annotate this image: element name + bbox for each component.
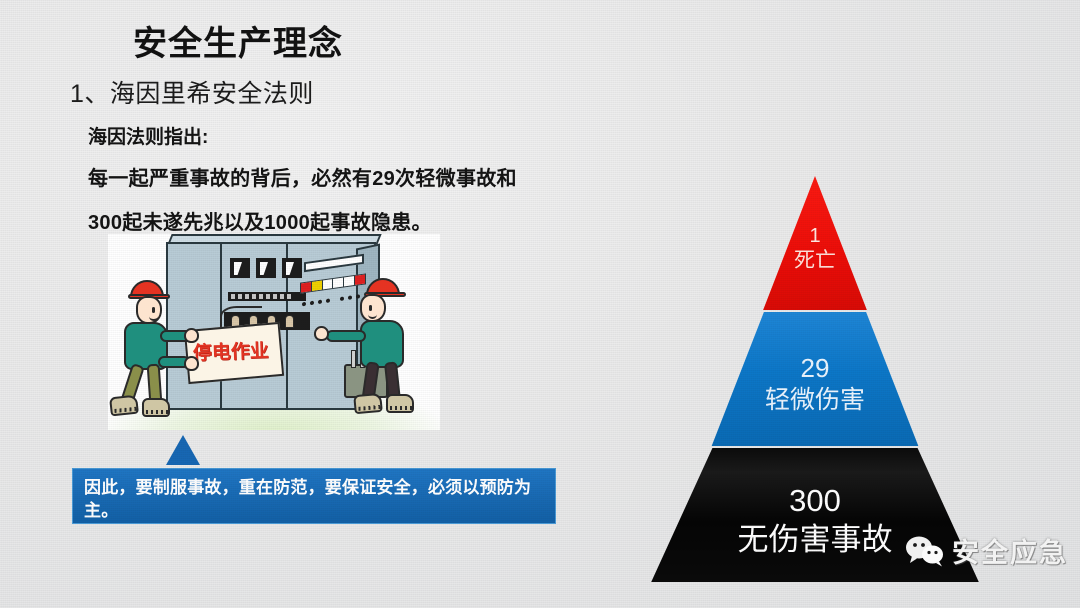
worker-right-boot-back (353, 393, 383, 414)
pyramid-tier-no-injury-value: 300 (620, 482, 1010, 520)
lead-text: 海因法则指出: (88, 122, 208, 149)
pyramid-tier-fatality-labels: 1 死亡 (620, 224, 1010, 274)
pyramid-tier-fatality: 1 死亡 (620, 176, 1010, 310)
body-line-2: 300起未遂先兆以及1000起事故隐患。 (88, 206, 432, 235)
worker-left-boot-front (142, 398, 170, 417)
safety-cartoon-illustration: 停电作业 (108, 234, 440, 430)
worker-left-eye (152, 307, 155, 313)
worker-right-mouth (368, 313, 377, 319)
led-blank-2 (333, 277, 344, 288)
worker-left-hand-upper (184, 328, 199, 343)
worker-right-arm (326, 330, 366, 342)
worker-left-head (136, 296, 162, 324)
section-subtitle: 1、海因里希安全法则 (70, 74, 314, 110)
power-off-sign: 停电作业 (184, 322, 284, 384)
heinrich-accident-pyramid: 1 死亡 29 轻微伤害 300 无伤害事故 (620, 176, 1010, 586)
pyramid-tier-minor-injury: 29 轻微伤害 (620, 312, 1010, 446)
cabinet-window-1 (230, 258, 250, 278)
wechat-watermark-label: 安全应急 (952, 531, 1068, 570)
cabinet-window-2 (256, 258, 276, 278)
led-yellow (312, 280, 323, 291)
page-title: 安全生产理念 (133, 16, 343, 65)
dot-2 (310, 301, 314, 306)
tool-1 (351, 350, 356, 368)
led-red-2 (355, 275, 365, 285)
power-off-sign-text: 停电作业 (192, 336, 269, 366)
worker-right-torso (360, 320, 404, 368)
wechat-icon (905, 535, 945, 567)
worker-right-eye (369, 305, 372, 311)
led-blank-1 (323, 279, 334, 290)
switch-4 (285, 315, 294, 328)
dot-3 (318, 300, 322, 305)
worker-right-hand (314, 326, 329, 341)
dot-1 (302, 302, 306, 307)
pyramid-tier-fatality-label: 死亡 (620, 248, 1010, 274)
dot-6 (348, 295, 352, 300)
conclusion-callout-text: 因此，要制服事故，重在防范，要保证安全，必须以预防为主。 (84, 476, 544, 522)
cabinet-window-3 (282, 258, 302, 278)
worker-right-head (360, 294, 386, 322)
body-line-1: 每一起严重事故的背后，必然有29次轻微事故和 (88, 162, 517, 191)
worker-right-boot-front (386, 394, 414, 413)
dot-7 (356, 294, 360, 299)
slide-canvas: 安全生产理念 1、海因里希安全法则 海因法则指出: 每一起严重事故的背后，必然有… (0, 0, 1080, 608)
worker-left-hand-lower (184, 356, 199, 371)
worker-left-boot-back (109, 395, 139, 417)
worker-left-mouth (149, 315, 158, 321)
pyramid-tier-minor-injury-labels: 29 轻微伤害 (620, 352, 1010, 416)
led-red (301, 282, 312, 293)
dot-4 (326, 298, 330, 303)
wechat-watermark: 安全应急 (905, 531, 1068, 570)
cabinet-indicator-strip (228, 292, 306, 301)
dot-5 (340, 296, 344, 301)
led-blank-3 (344, 276, 355, 287)
conclusion-callout: 因此，要制服事故，重在防范，要保证安全，必须以预防为主。 (72, 468, 556, 524)
callout-arrow-icon (166, 435, 200, 465)
pyramid-tier-minor-injury-label: 轻微伤害 (620, 384, 1010, 416)
pyramid-tier-fatality-value: 1 (620, 224, 1010, 248)
pyramid-tier-minor-injury-value: 29 (620, 352, 1010, 384)
